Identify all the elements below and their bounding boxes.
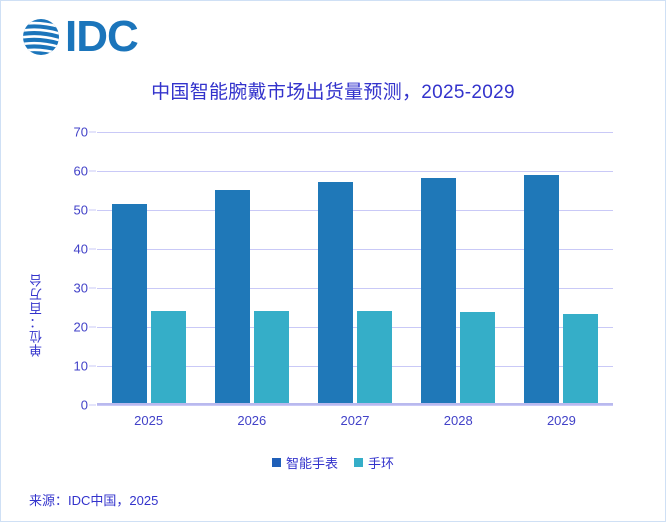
bar-group	[97, 132, 200, 405]
y-tick-mark	[89, 405, 96, 406]
legend-item-手环[interactable]: 手环	[354, 453, 394, 472]
y-tick-label: 20	[74, 320, 88, 335]
y-tick-label: 40	[74, 242, 88, 257]
y-tick-mark	[89, 132, 96, 133]
bar-手环-2029[interactable]	[563, 314, 598, 405]
y-tick-mark	[89, 327, 96, 328]
bar-智能手表-2026[interactable]	[215, 190, 250, 405]
y-tick-mark	[89, 171, 96, 172]
chart-legend: 智能手表手环	[1, 453, 665, 472]
y-tick-label: 30	[74, 281, 88, 296]
legend-swatch	[272, 458, 281, 467]
bar-group	[407, 132, 510, 405]
y-tick-mark	[89, 210, 96, 211]
x-axis-labels: 20252026202720282029	[97, 413, 613, 428]
globe-icon	[19, 15, 63, 59]
y-tick-label: 70	[74, 125, 88, 140]
y-tick-label: 0	[81, 398, 88, 413]
y-axis-label: 单位：百万台	[27, 273, 47, 357]
bar-智能手表-2028[interactable]	[421, 178, 456, 405]
bar-手环-2028[interactable]	[460, 312, 495, 405]
bar-group	[303, 132, 406, 405]
idc-logo: IDC	[19, 13, 138, 61]
x-tick-label: 2028	[407, 413, 510, 428]
x-tick-label: 2029	[510, 413, 613, 428]
x-axis-line	[97, 403, 613, 405]
legend-swatch	[354, 458, 363, 467]
bar-group	[510, 132, 613, 405]
legend-item-智能手表[interactable]: 智能手表	[272, 453, 338, 472]
source-note: 来源：IDC中国，2025	[29, 490, 158, 509]
x-tick-label: 2026	[200, 413, 303, 428]
y-tick-label: 10	[74, 359, 88, 374]
gridline	[97, 405, 613, 406]
bar-手环-2025[interactable]	[151, 311, 186, 405]
bar-手环-2026[interactable]	[254, 311, 289, 405]
x-tick-label: 2027	[303, 413, 406, 428]
x-tick-label: 2025	[97, 413, 200, 428]
chart-card: IDC 中国智能腕戴市场出货量预测，2025-2029 单位：百万台 70605…	[0, 0, 666, 522]
bar-groups	[97, 132, 613, 405]
y-tick-mark	[89, 288, 96, 289]
bar-智能手表-2025[interactable]	[112, 204, 147, 405]
bar-手环-2027[interactable]	[357, 311, 392, 405]
plot-canvas: 706050403020100	[97, 132, 613, 405]
logo-wordmark: IDC	[65, 15, 138, 59]
legend-label: 智能手表	[286, 453, 338, 472]
chart-title: 中国智能腕戴市场出货量预测，2025-2029	[1, 77, 665, 104]
y-tick-label: 60	[74, 164, 88, 179]
bar-智能手表-2029[interactable]	[524, 175, 559, 405]
y-tick-mark	[89, 366, 96, 367]
bar-group	[200, 132, 303, 405]
y-tick-label: 50	[74, 203, 88, 218]
plot-area: 单位：百万台 706050403020100 20252026202720282…	[1, 113, 666, 453]
legend-label: 手环	[368, 453, 394, 472]
bar-智能手表-2027[interactable]	[318, 182, 353, 405]
y-tick-mark	[89, 249, 96, 250]
